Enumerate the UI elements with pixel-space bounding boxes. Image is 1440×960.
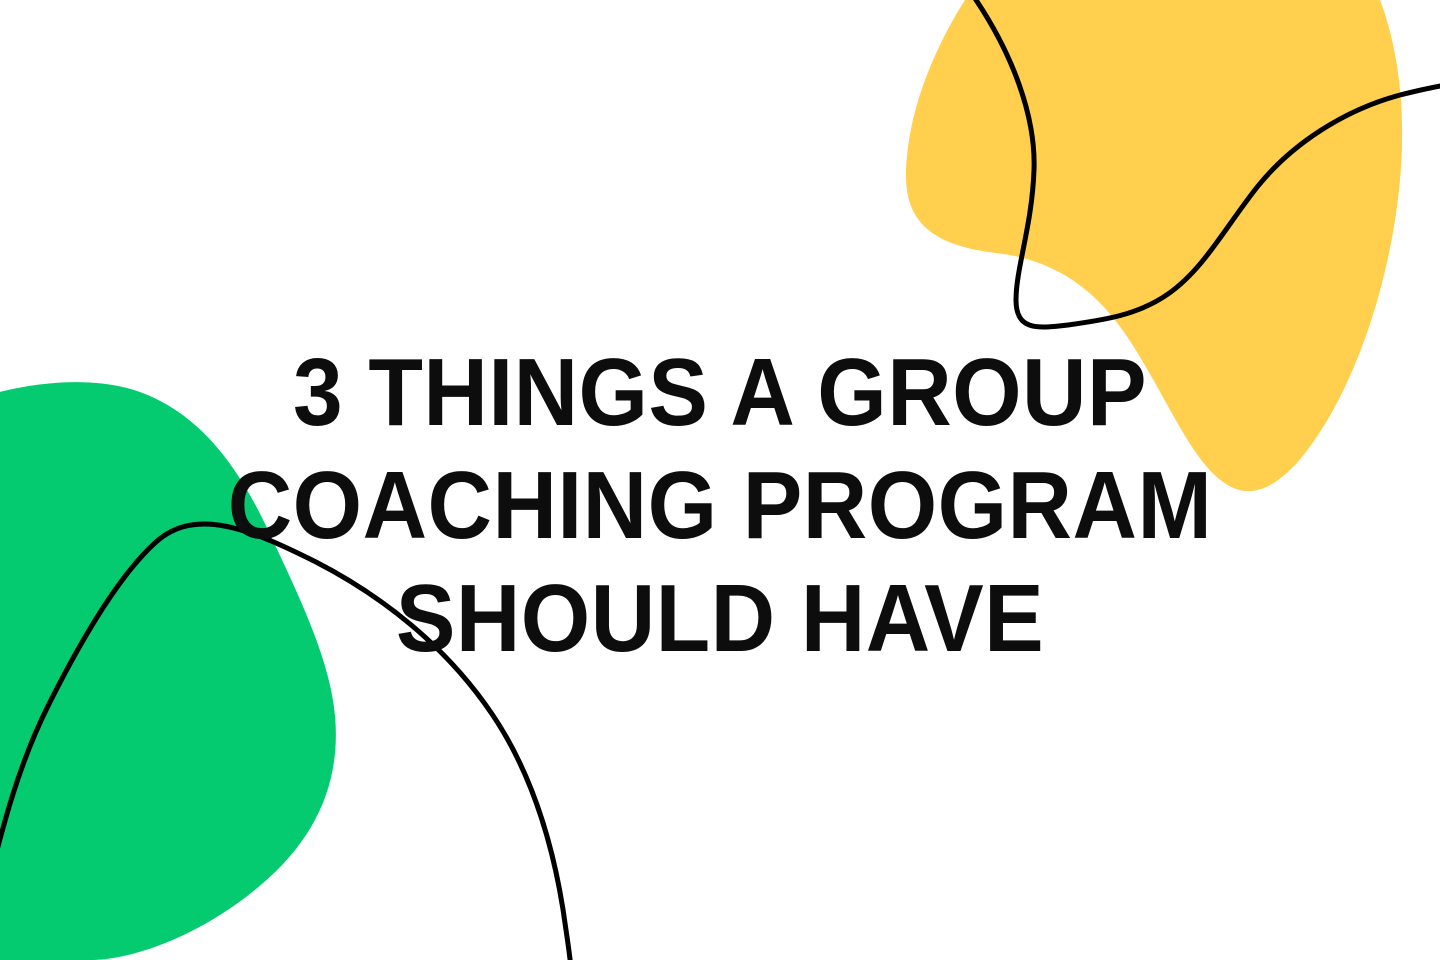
page-title: 3 THINGS A GROUP COACHING PROGRAM SHOULD…	[0, 336, 1440, 675]
headline-line-2: COACHING PROGRAM	[50, 449, 1389, 562]
poster-canvas: 3 THINGS A GROUP COACHING PROGRAM SHOULD…	[0, 0, 1440, 960]
headline-line-3: SHOULD HAVE	[50, 562, 1389, 675]
headline-line-1: 3 THINGS A GROUP	[50, 336, 1389, 449]
top-right-squiggle-line	[972, 0, 1440, 327]
